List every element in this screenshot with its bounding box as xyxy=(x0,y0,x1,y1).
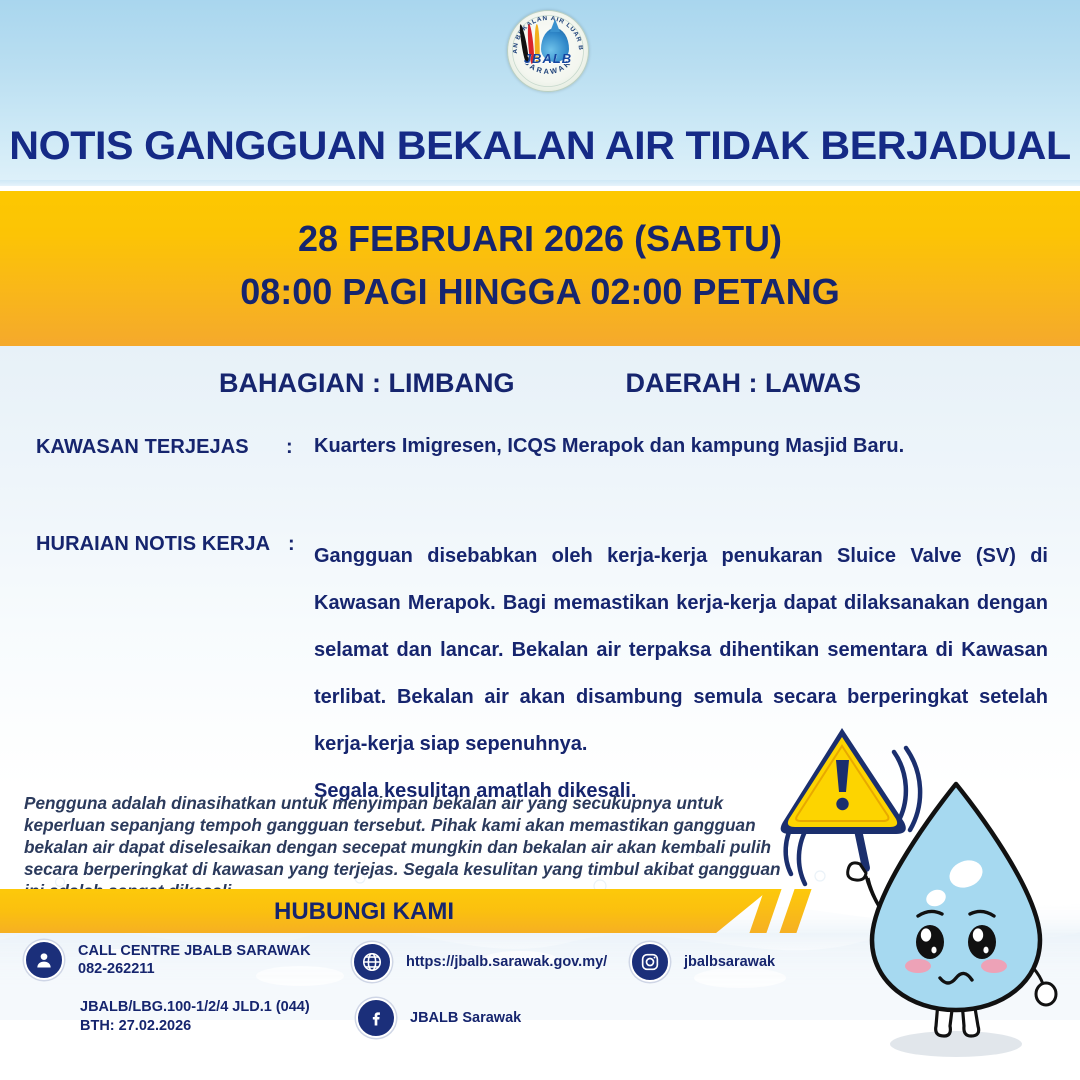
hubungi-kami-label: HUBUNGI KAMI xyxy=(0,898,728,926)
water-droplet-mascot xyxy=(778,726,1080,1076)
kawasan-colon: : xyxy=(286,436,314,459)
division-row: BAHAGIAN : LIMBANG DAERAH : LAWAS xyxy=(0,368,1080,399)
instagram-icon xyxy=(630,942,670,982)
person-icon xyxy=(24,940,64,980)
huraian-label: HURAIAN NOTIS KERJA xyxy=(36,533,288,556)
date-banner: 28 FEBRUARI 2026 (SABTU) 08:00 PAGI HING… xyxy=(0,191,1080,346)
globe-icon xyxy=(352,942,392,982)
instagram-handle: jbalbsarawak xyxy=(684,953,775,971)
kawasan-terjejas-field: KAWASAN TERJEJAS : Kuarters Imigresen, I… xyxy=(36,436,1046,459)
facebook-name: JBALB Sarawak xyxy=(410,1009,521,1027)
call-centre-text: CALL CENTRE JBALB SARAWAK 082-262211 xyxy=(78,942,311,978)
call-centre-phone: 082-262211 xyxy=(78,960,311,978)
website-url: https://jbalb.sarawak.gov.my/ xyxy=(406,953,607,971)
huraian-colon: : xyxy=(288,533,314,556)
kawasan-terjejas-label: KAWASAN TERJEJAS xyxy=(36,436,286,459)
kawasan-terjejas-value: Kuarters Imigresen, ICQS Merapok dan kam… xyxy=(314,436,904,456)
disclaimer-text: Pengguna adalah dinasihatkan untuk menyi… xyxy=(24,792,784,902)
reference-block: JBALB/LBG.100-1/2/4 JLD.1 (044) BTH: 27.… xyxy=(80,998,310,1036)
hubungi-kami-bar: HUBUNGI KAMI xyxy=(0,889,770,933)
page-title: NOTIS GANGGUAN BEKALAN AIR TIDAK BERJADU… xyxy=(0,124,1080,169)
date-line-1: 28 FEBRUARI 2026 (SABTU) xyxy=(0,218,1080,260)
bahagian-text: BAHAGIAN : LIMBANG xyxy=(219,368,514,398)
contact-instagram[interactable]: jbalbsarawak xyxy=(630,942,775,982)
facebook-icon xyxy=(356,998,396,1038)
logo-wordmark: JBALB xyxy=(508,51,588,66)
jbalb-logo: JABATAN BEKALAN AIR LUAR BANDAR SARAWAK … xyxy=(505,6,589,102)
reference-date: BTH: 27.02.2026 xyxy=(80,1017,310,1036)
notice-poster: JABATAN BEKALAN AIR LUAR BANDAR SARAWAK … xyxy=(0,0,1080,1080)
daerah-text: DAERAH : LAWAS xyxy=(626,368,862,398)
body-area: BAHAGIAN : LIMBANG DAERAH : LAWAS KAWASA… xyxy=(0,346,1080,1080)
contact-facebook[interactable]: JBALB Sarawak xyxy=(356,998,521,1038)
contact-website[interactable]: https://jbalb.sarawak.gov.my/ xyxy=(352,942,607,982)
call-centre-name: CALL CENTRE JBALB SARAWAK xyxy=(78,942,311,960)
contacts-section: CALL CENTRE JBALB SARAWAK 082-262211 JBA… xyxy=(0,940,860,1060)
contact-call-centre[interactable]: CALL CENTRE JBALB SARAWAK 082-262211 xyxy=(24,940,311,980)
reference-number: JBALB/LBG.100-1/2/4 JLD.1 (044) xyxy=(80,998,310,1017)
contact-bar-wrapper: HUBUNGI KAMI xyxy=(0,889,840,933)
date-line-2: 08:00 PAGI HINGGA 02:00 PETANG xyxy=(0,271,1080,313)
warning-triangle-sign xyxy=(781,728,906,834)
